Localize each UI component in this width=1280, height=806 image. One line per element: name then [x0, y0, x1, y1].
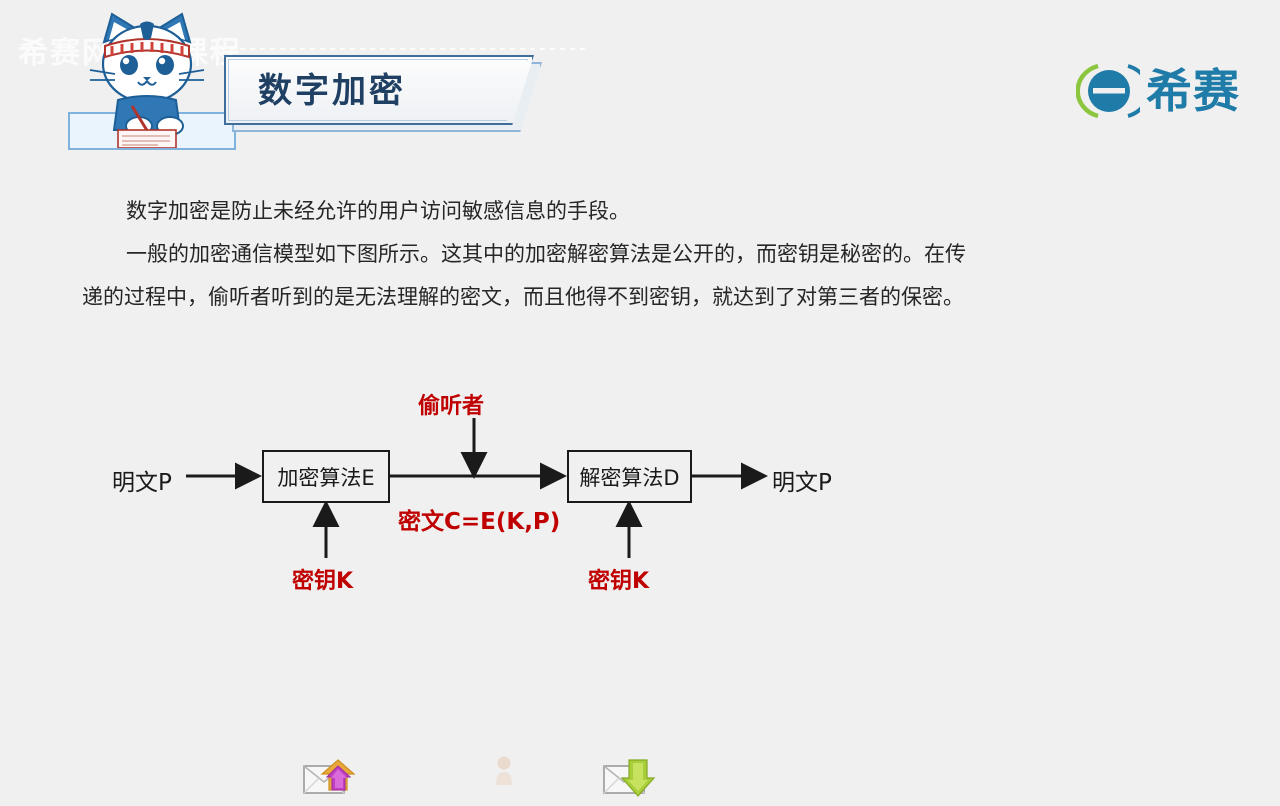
brand-logo-text: 希赛: [1146, 68, 1240, 114]
key-decrypt-label: 密钥K: [588, 563, 649, 595]
ciphertext-label: 密文C=E(K,P): [398, 502, 560, 536]
xisai-circle-logo-icon: [1076, 60, 1140, 122]
brand-logo[interactable]: 希赛: [1076, 58, 1240, 124]
encrypt-algorithm-box: 加密算法E: [262, 450, 390, 503]
decrypt-algorithm-box: 解密算法D: [567, 450, 692, 503]
key-encrypt-label: 密钥K: [292, 563, 353, 595]
paragraph-2: 一般的加密通信模型如下图所示。这其中的加密解密算法是公开的，而密钥是秘密的。在传…: [82, 233, 982, 319]
paragraph-1: 数字加密是防止未经允许的用户访问敏感信息的手段。: [82, 190, 982, 233]
page-header: 希赛网视频课程 数字加密: [0, 0, 1280, 165]
plaintext-output-label: 明文P: [772, 463, 832, 497]
body-text: 数字加密是防止未经允许的用户访问敏感信息的手段。 一般的加密通信模型如下图所示。…: [82, 190, 982, 319]
cat-mascot-icon: [82, 8, 212, 148]
envelope-download-icon: [602, 758, 658, 802]
eavesdropper-label: 偷听者: [418, 388, 484, 420]
page-title: 数字加密: [258, 68, 508, 114]
watermark-dotted-rule: [170, 48, 590, 50]
encrypt-algorithm-label: 加密算法E: [277, 462, 374, 492]
decrypt-algorithm-label: 解密算法D: [579, 462, 679, 492]
encryption-model-diagram: 加密算法E 解密算法D 明文P 明文P 偷听: [0, 370, 1280, 620]
person-silhouette-icon: [493, 755, 515, 785]
plaintext-input-label: 明文P: [112, 463, 172, 497]
envelope-upload-icon: [302, 756, 356, 802]
